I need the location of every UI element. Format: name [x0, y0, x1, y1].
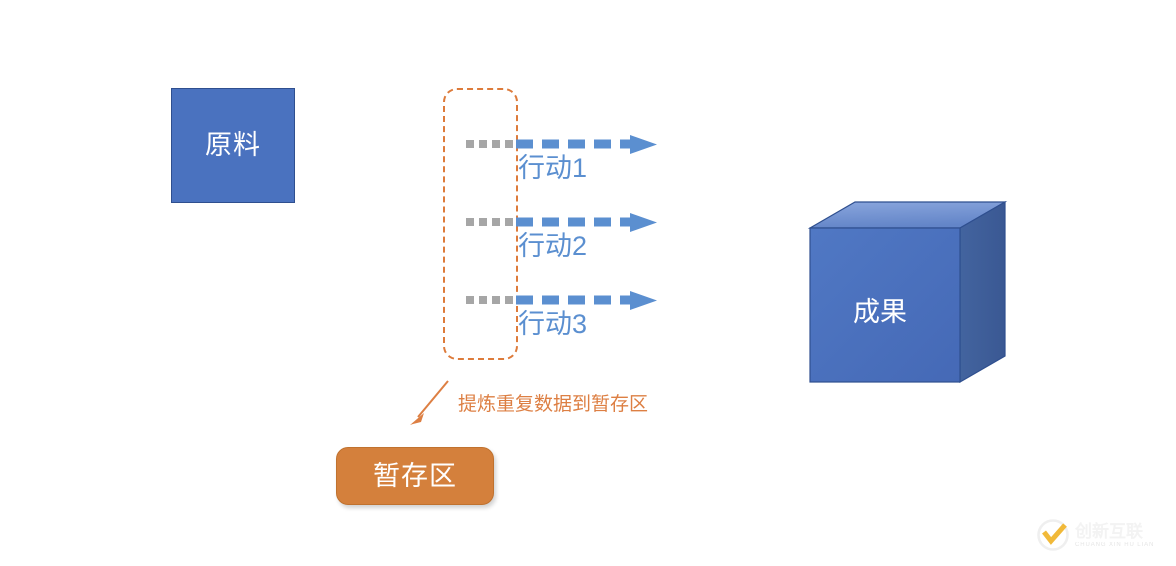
result-cube[interactable] [805, 196, 1010, 386]
watermark-subtitle: CHUANG XIN HU LIAN [1075, 542, 1154, 548]
grey-dots-icon [466, 140, 516, 148]
action-label: 行动1 [518, 154, 587, 182]
watermark-text: 创新互联 CHUANG XIN HU LIAN [1075, 523, 1154, 548]
source-material-label: 原料 [205, 132, 261, 159]
action-label: 行动2 [518, 232, 587, 260]
diagram-canvas: 原料 行动1 行动2 [0, 0, 1176, 566]
staging-area-box[interactable]: 暂存区 [336, 447, 494, 505]
annotation-text: 提炼重复数据到暂存区 [458, 394, 648, 417]
source-material-box[interactable]: 原料 [171, 88, 295, 203]
grey-dots-icon [466, 296, 516, 304]
brand-logo-icon [1036, 518, 1070, 552]
action-label: 行动3 [518, 310, 587, 338]
staging-area-label: 暂存区 [373, 463, 457, 490]
watermark: 创新互联 CHUANG XIN HU LIAN [1036, 513, 1168, 557]
watermark-title: 创新互联 [1075, 523, 1154, 540]
grey-dots-icon [466, 218, 516, 226]
